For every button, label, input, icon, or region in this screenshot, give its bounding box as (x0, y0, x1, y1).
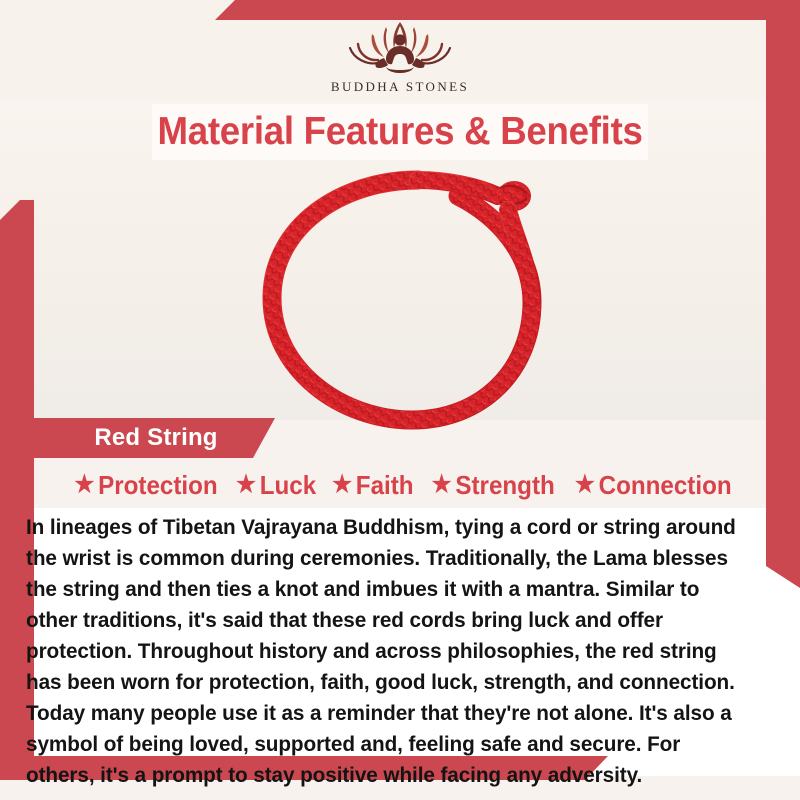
benefit-item-connection: ★ Connection (575, 470, 732, 501)
benefits-list: ★ Protection ★ Luck ★ Faith ★ Strength ★… (40, 466, 766, 504)
benefit-item-luck: ★ Luck (236, 470, 316, 501)
brand-name: BUDDHA STONES (331, 79, 469, 95)
benefit-item-strength: ★ Strength (431, 470, 554, 501)
star-icon: ★ (74, 473, 94, 497)
page-title: Material Features & Benefits (157, 110, 642, 154)
benefit-item-protection: ★ Protection (74, 470, 217, 501)
star-icon: ★ (332, 473, 352, 497)
benefit-label: Luck (259, 470, 315, 501)
product-image-red-string-bracelet (246, 158, 576, 448)
star-icon: ★ (236, 473, 256, 497)
star-icon: ★ (575, 473, 595, 497)
benefit-label: Strength (455, 470, 554, 501)
product-name-label: Red String (25, 424, 253, 452)
infographic-page: BUDDHA STONES Material Features & Benefi… (0, 0, 800, 800)
star-icon: ★ (431, 473, 451, 497)
title-banner: Material Features & Benefits (152, 104, 648, 160)
benefit-item-faith: ★ Faith (332, 470, 413, 501)
benefit-label: Connection (599, 470, 732, 501)
benefit-label: Protection (98, 470, 218, 501)
description-paragraph: In lineages of Tibetan Vajrayana Buddhis… (26, 512, 748, 791)
benefit-label: Faith (356, 470, 414, 501)
product-name-ribbon: Red String (25, 418, 275, 458)
lotus-meditation-icon (334, 14, 466, 76)
brand-logo: BUDDHA STONES (0, 14, 800, 95)
